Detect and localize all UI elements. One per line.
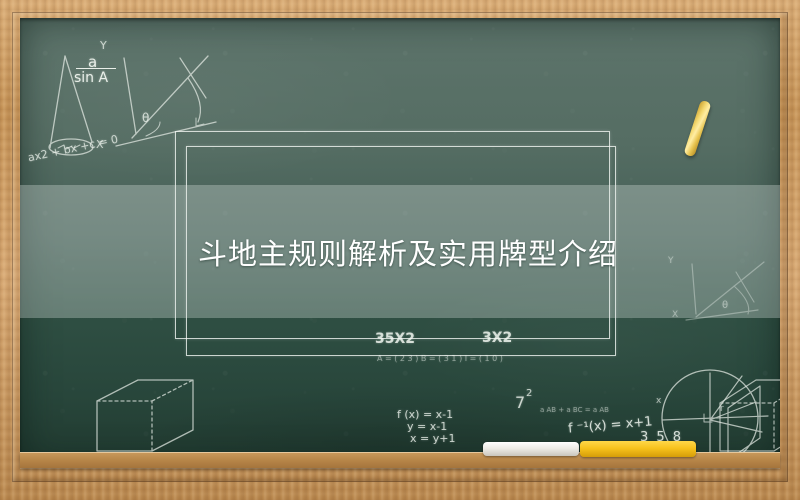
fraction-denominator-sin-a-1: sin A [74,70,108,86]
function-x-label: x = y+1 [410,432,455,445]
chalk-white-ledge [483,442,579,456]
headline-container: 斗地主规则解析及实用牌型介绍 [20,185,780,318]
page-title: 斗地主规则解析及实用牌型介绍 [182,231,618,273]
axis-label-y-1: Y [100,39,107,52]
cube-drawing-far-right [720,380,780,451]
cube-drawing-left [97,380,193,451]
cone-drawing [49,56,93,155]
circle-label-r: r [720,404,724,414]
inverse-function-label: f ⁻¹(x) = x+1 [568,414,654,436]
fraction-numerator-a-1: a [88,53,97,71]
function-y-label: y = x-1 [407,420,447,433]
chalkboard-title-card: a sin A Y X θ ax2 + bx +c = 0 f (x) = x-… [0,0,800,500]
chalkboard-surface: a sin A Y X θ ax2 + bx +c = 0 f (x) = x-… [20,18,780,468]
ab-ac-expression-label: a AB + a BC = a AB [540,406,609,414]
quadratic-equation-label: ax2 + bx +c = 0 [27,133,120,165]
chalk-stick-yellow-top [683,100,711,158]
fraction-bar-1 [76,68,116,69]
axis-label-x-1: X [96,138,104,151]
circle-label-x: x [656,396,661,406]
cube-drawing-right [728,386,760,460]
chalk-yellow-ledge [580,441,696,457]
power-seven-base: 7 [515,393,525,412]
power-seven-exponent: 2 [526,388,532,399]
angle-theta-label-1: θ [142,111,149,125]
function-fx-label: f (x) = x-1 [397,408,453,421]
